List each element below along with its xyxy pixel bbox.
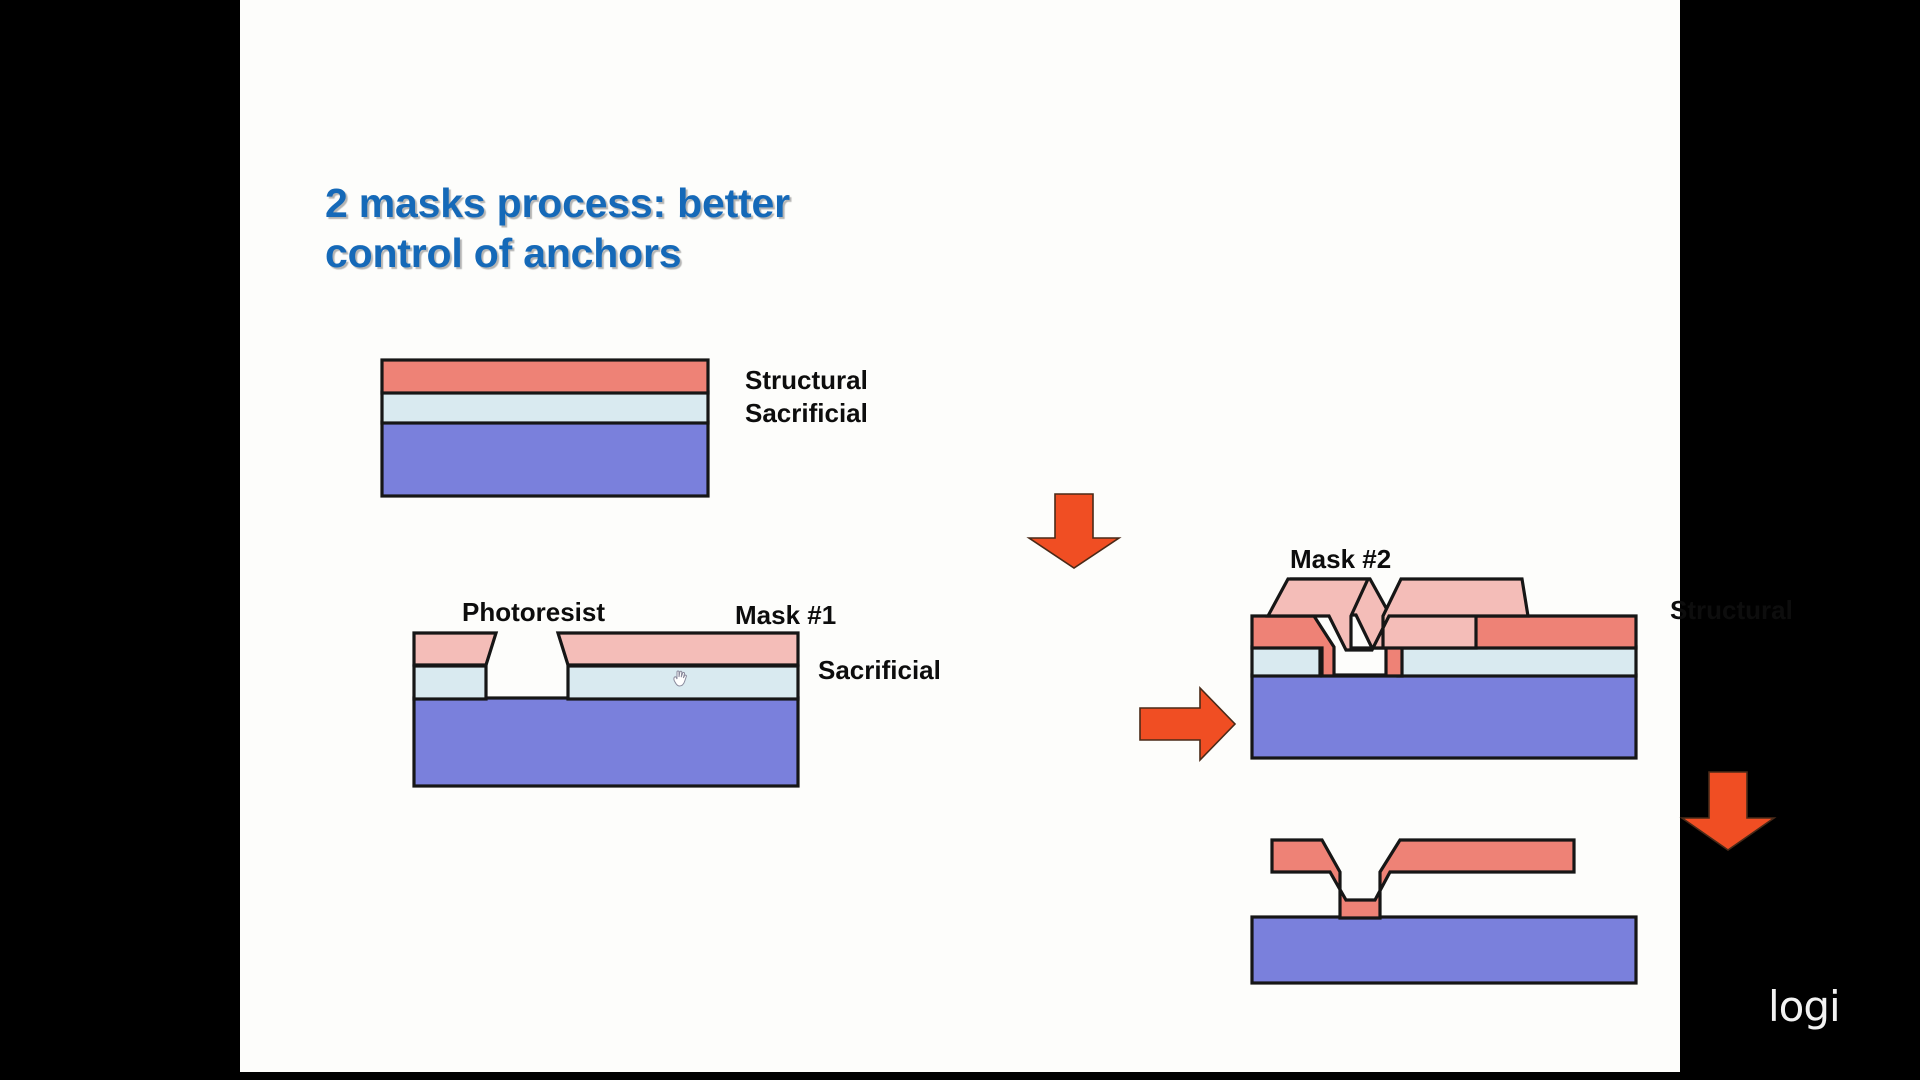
label-photoresist: Photoresist <box>462 597 605 628</box>
letterbox-bar-bottom <box>240 1072 1680 1080</box>
diagram-stack-structural-mask2 <box>1250 575 1650 760</box>
layer-sacrificial <box>382 392 708 423</box>
letterbox-bar-left <box>0 0 240 1080</box>
layer-sacrificial-right <box>1398 647 1636 676</box>
page-title: 2 masks process: better control of ancho… <box>325 178 1025 278</box>
layer-substrate <box>414 698 798 786</box>
stack-initial-figure <box>380 358 710 498</box>
logi-watermark: logi <box>1768 982 1840 1031</box>
title-line-1: 2 masks process: better <box>325 178 1025 228</box>
diagram-stack-initial <box>380 358 710 498</box>
layer-substrate <box>1252 675 1636 758</box>
label-structural-top: Structural <box>745 365 868 396</box>
arrow-right-middle <box>1138 684 1238 764</box>
label-mask-1: Mask #1 <box>735 600 836 631</box>
arrow-down-top <box>1024 492 1124 570</box>
arrow-down-right <box>1678 770 1778 852</box>
mouse-cursor-artifact <box>670 668 692 690</box>
title-line-2: control of anchors <box>325 228 1025 278</box>
layer-substrate <box>382 422 708 496</box>
layer-substrate <box>1252 917 1636 983</box>
layer-sacrificial-left <box>1252 647 1320 676</box>
layer-structural-released <box>1272 840 1574 918</box>
label-mask-2: Mask #2 <box>1290 544 1391 575</box>
right-arrow-shape <box>1140 688 1235 760</box>
down-arrow-shape <box>1029 494 1119 568</box>
stack-mask2-figure <box>1250 575 1650 760</box>
label-sacrificial-top: Sacrificial <box>745 398 868 429</box>
screen: 2 masks process: better control of ancho… <box>0 0 1920 1080</box>
diagram-stack-patterned-mask1 <box>412 628 812 788</box>
arrow-down-top-icon <box>1024 492 1124 570</box>
photoresist-right <box>558 633 798 665</box>
letterbox-bar-right <box>1680 0 1920 1080</box>
label-structural-right: Structural <box>1670 595 1793 626</box>
photoresist-left <box>414 633 496 665</box>
down-arrow-shape <box>1682 772 1774 850</box>
arrow-down-right-icon <box>1678 770 1778 852</box>
stack-released-figure <box>1250 825 1650 985</box>
hand-cursor-icon <box>670 668 692 690</box>
arrow-right-middle-icon <box>1138 684 1238 764</box>
layer-sacrificial-left <box>414 666 486 699</box>
stack-mask1-figure <box>412 628 812 788</box>
layer-structural <box>382 360 708 393</box>
label-sacrificial-middle: Sacrificial <box>818 655 941 686</box>
diagram-stack-released <box>1250 825 1650 985</box>
slide-canvas: 2 masks process: better control of ancho… <box>240 0 1680 1072</box>
